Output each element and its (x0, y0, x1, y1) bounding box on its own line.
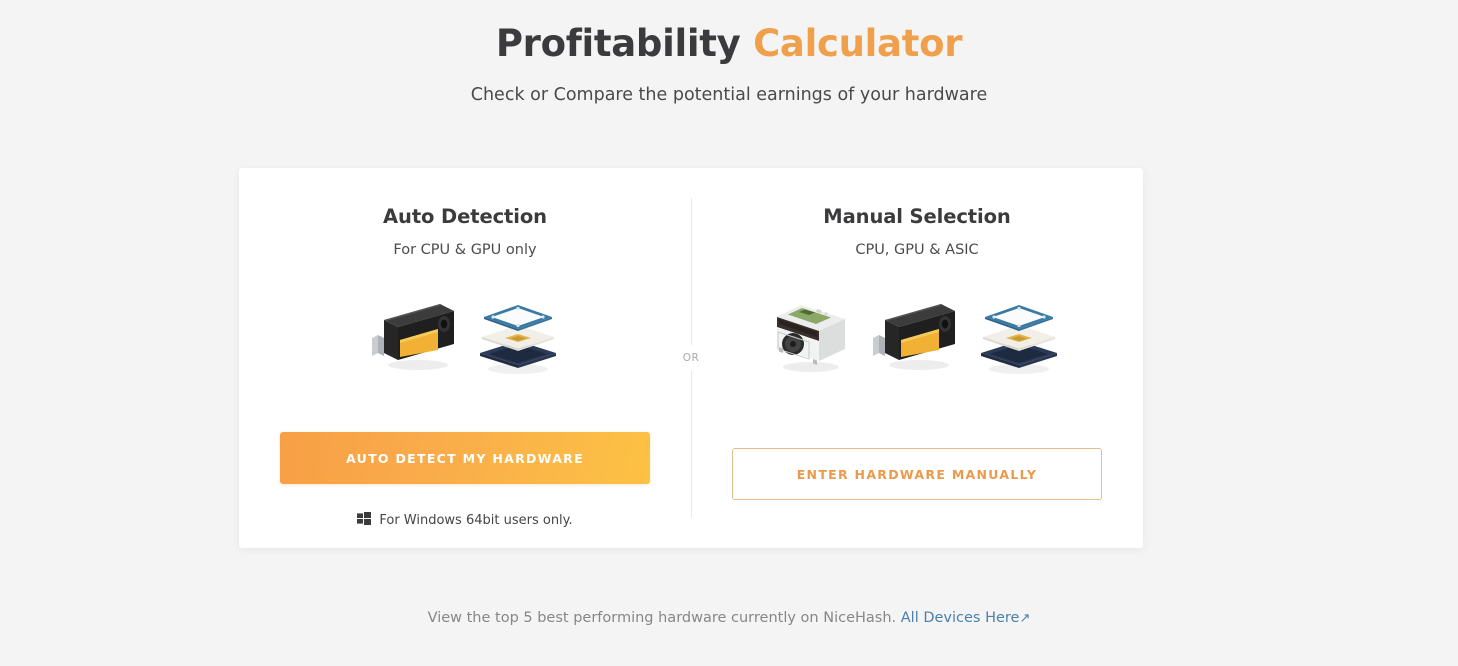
asic-miner-icon (769, 297, 853, 379)
panel-manual-selection: Manual Selection CPU, GPU & ASIC (691, 168, 1143, 548)
auto-detect-my-hardware-button[interactable]: AUTO DETECT MY HARDWARE (280, 432, 650, 484)
hardware-illustrations-manual (769, 292, 1065, 384)
windows-note: For Windows 64bit users only. (357, 512, 572, 528)
all-devices-here-link[interactable]: All Devices Here↗ (901, 610, 1031, 626)
all-devices-here-label: All Devices Here (901, 610, 1020, 626)
panel-auto-detection: Auto Detection For CPU & GPU only (239, 168, 691, 548)
cpu-exploded-icon (472, 295, 564, 381)
page-title-accent: Calculator (753, 22, 962, 65)
calculator-card: Auto Detection For CPU & GPU only (239, 168, 1143, 548)
windows-note-label: For Windows 64bit users only. (379, 513, 572, 528)
panel-subtitle-manual-selection: CPU, GPU & ASIC (855, 242, 978, 258)
gpu-card-icon (366, 298, 458, 378)
page-header: Profitability Calculator Check or Compar… (0, 0, 1458, 105)
external-link-arrow-icon: ↗ (1019, 611, 1030, 626)
cpu-exploded-icon (973, 295, 1065, 381)
windows-icon (357, 512, 371, 529)
page-subtitle: Check or Compare the potential earnings … (0, 85, 1458, 105)
panel-title-manual-selection: Manual Selection (823, 205, 1010, 228)
auto-detection-actions: AUTO DETECT MY HARDWARE For Windows 64bi… (239, 432, 691, 548)
footer: View the top 5 best performing hardware … (0, 610, 1458, 626)
manual-selection-actions: ENTER HARDWARE MANUALLY (691, 448, 1143, 548)
panel-title-auto-detection: Auto Detection (383, 205, 547, 228)
page-title-main: Profitability (496, 22, 741, 65)
enter-hardware-manually-button[interactable]: ENTER HARDWARE MANUALLY (732, 448, 1102, 500)
page-title: Profitability Calculator (0, 24, 1458, 65)
gpu-card-icon (867, 298, 959, 378)
footer-text: View the top 5 best performing hardware … (428, 610, 897, 626)
hardware-illustrations-auto (366, 292, 564, 384)
panel-subtitle-auto-detection: For CPU & GPU only (393, 242, 536, 258)
